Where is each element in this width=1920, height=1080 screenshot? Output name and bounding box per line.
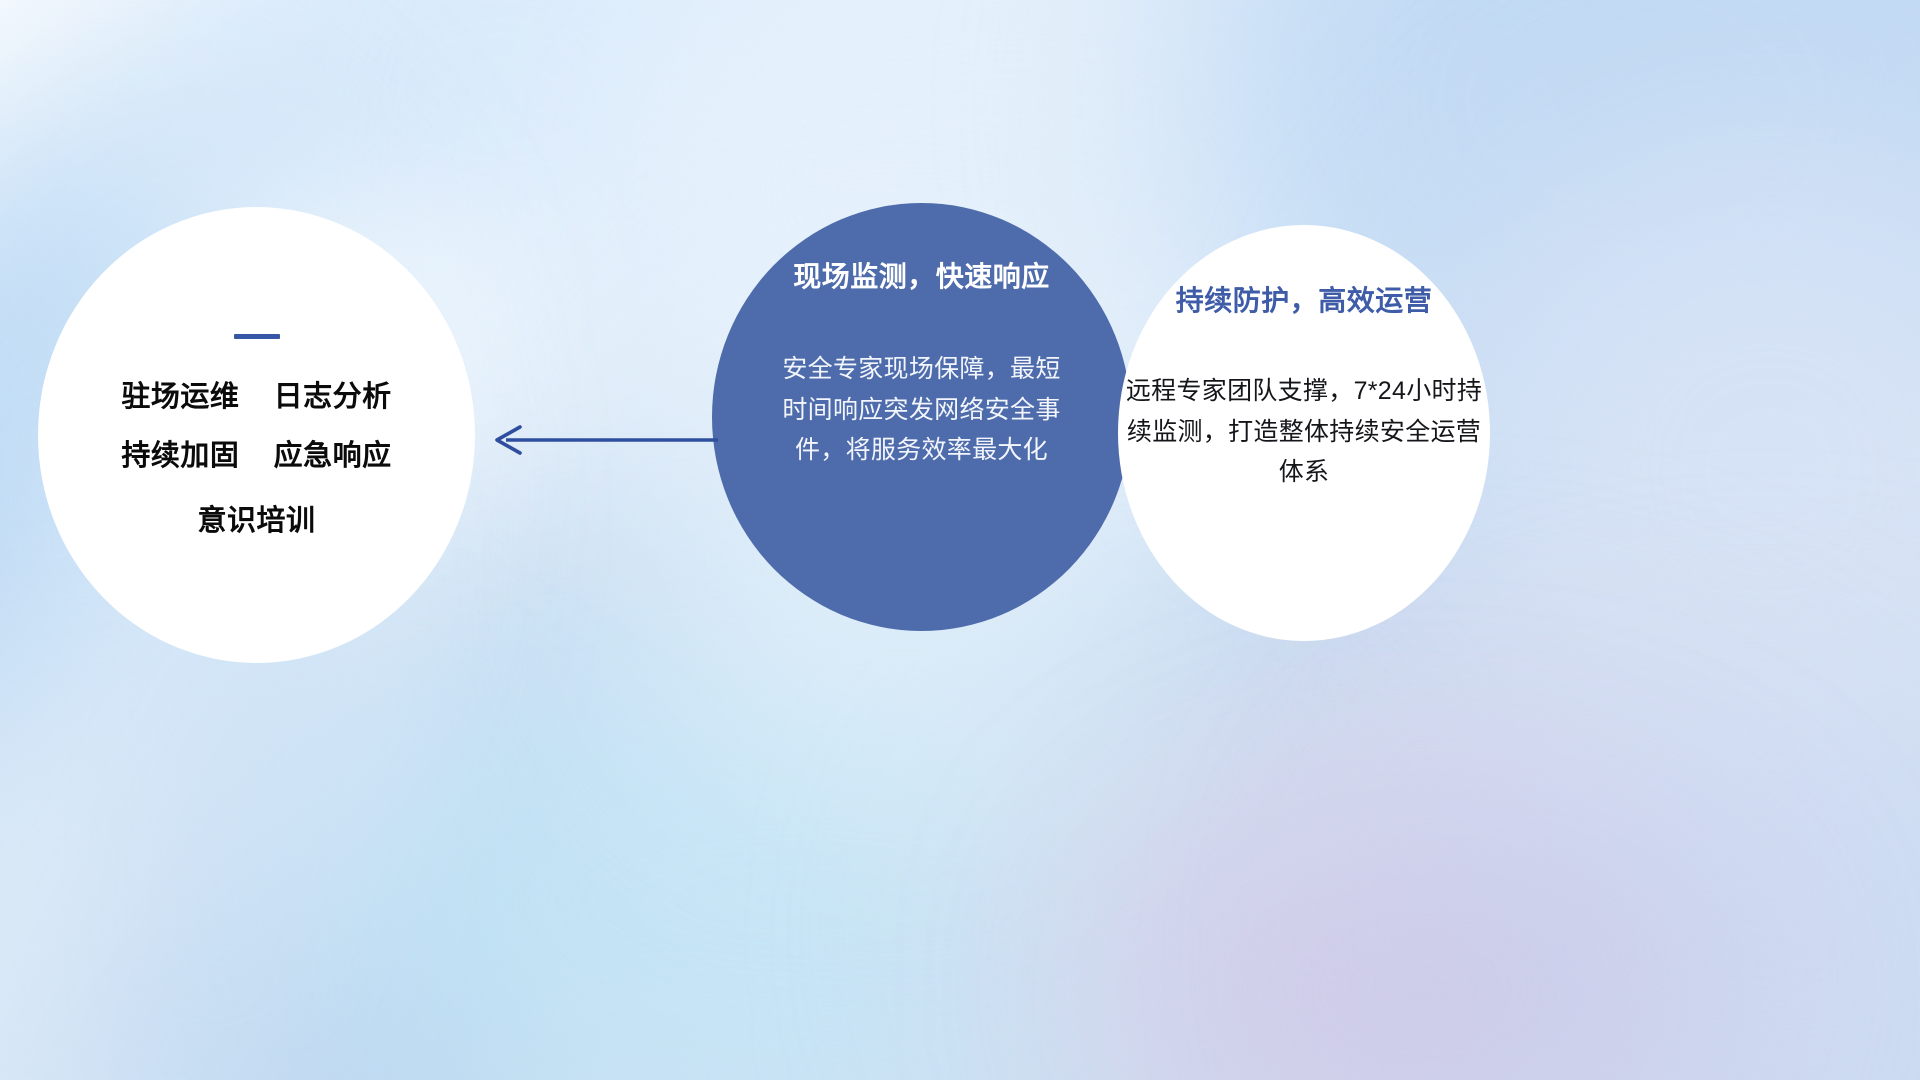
background-blob xyxy=(0,760,560,1080)
circle-node-capabilities[interactable]: 驻场运维 日志分析 持续加固 应急响应 意识培训 xyxy=(38,207,475,663)
capability-line-2: 持续加固 应急响应 xyxy=(121,442,391,471)
background-blob xyxy=(1120,820,1740,1080)
diagram-canvas: 驻场运维 日志分析 持续加固 应急响应 意识培训 现场监测，快速响应 安全专家现… xyxy=(0,0,1920,1080)
circle-node-onsite-monitoring[interactable]: 现场监测，快速响应 安全专家现场保障，最短时间响应突发网络安全事件，将服务效率最… xyxy=(712,203,1131,631)
capability-line-3: 意识培训 xyxy=(197,507,315,536)
right-circle-title: 持续防护，高效运营 xyxy=(1176,279,1433,319)
capability-line-1: 驻场运维 日志分析 xyxy=(121,383,391,412)
center-circle-title: 现场监测，快速响应 xyxy=(793,255,1050,295)
background-blob xyxy=(1420,120,1920,820)
circle-node-continuous-protection[interactable]: 持续防护，高效运营 远程专家团队支撑，7*24小时持续监测，打造整体持续安全运营… xyxy=(1118,225,1490,641)
background-blob xyxy=(300,640,1300,1080)
background-blob xyxy=(1380,700,1920,1080)
right-circle-body: 远程专家团队支撑，7*24小时持续监测，打造整体持续安全运营体系 xyxy=(1124,371,1484,493)
background-blob xyxy=(980,680,1880,1080)
left-pointing-arrow-icon xyxy=(480,412,720,468)
center-circle-body: 安全专家现场保障，最短时间响应突发网络安全事件，将服务效率最大化 xyxy=(772,349,1072,471)
title-divider-dash xyxy=(234,334,280,339)
